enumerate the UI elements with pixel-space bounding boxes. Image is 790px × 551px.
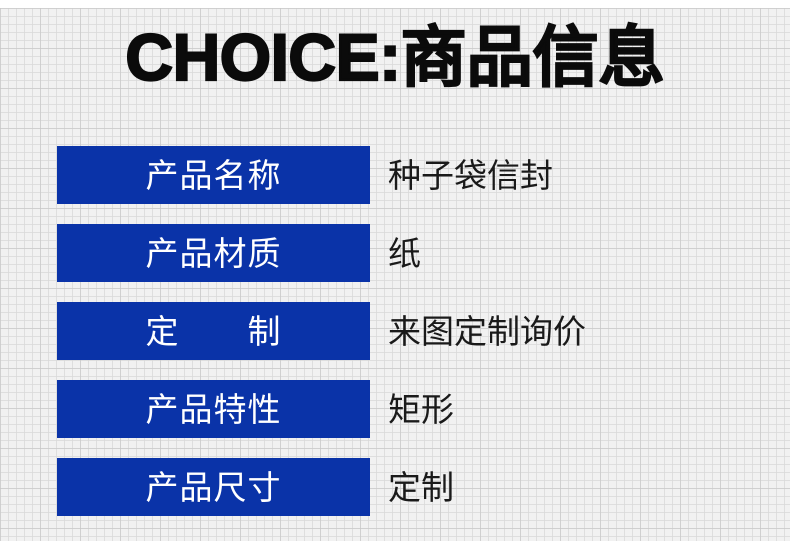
page-title-cjk: 商品信息 <box>401 19 665 96</box>
table-row: 产品名称 种子袋信封 <box>57 146 757 204</box>
spec-table: 产品名称 种子袋信封 产品材质 纸 定 制 来图定制询价 产品特性 矩形 产品尺… <box>57 146 757 516</box>
page-title: CHOICE:商品信息 <box>0 20 790 95</box>
spec-value-product-material: 纸 <box>388 224 421 282</box>
spec-label-product-feature: 产品特性 <box>57 380 370 438</box>
table-row: 产品尺寸 定制 <box>57 458 757 516</box>
spec-label-product-size: 产品尺寸 <box>57 458 370 516</box>
spec-label-customization: 定 制 <box>57 302 370 360</box>
spec-label-product-material: 产品材质 <box>57 224 370 282</box>
spec-value-product-size: 定制 <box>388 458 454 516</box>
spec-label-product-name: 产品名称 <box>57 146 370 204</box>
product-info-banner: CHOICE:商品信息 产品名称 种子袋信封 产品材质 纸 定 制 来图定制询价… <box>0 0 790 551</box>
spec-value-product-name: 种子袋信封 <box>388 146 553 204</box>
banner-content: CHOICE:商品信息 产品名称 种子袋信封 产品材质 纸 定 制 来图定制询价… <box>0 0 790 551</box>
table-row: 定 制 来图定制询价 <box>57 302 757 360</box>
page-title-ascii: CHOICE: <box>125 20 400 94</box>
table-row: 产品特性 矩形 <box>57 380 757 438</box>
bottom-white-strip <box>0 541 790 551</box>
spec-value-customization: 来图定制询价 <box>388 302 586 360</box>
table-row: 产品材质 纸 <box>57 224 757 282</box>
spec-value-product-feature: 矩形 <box>388 380 454 438</box>
